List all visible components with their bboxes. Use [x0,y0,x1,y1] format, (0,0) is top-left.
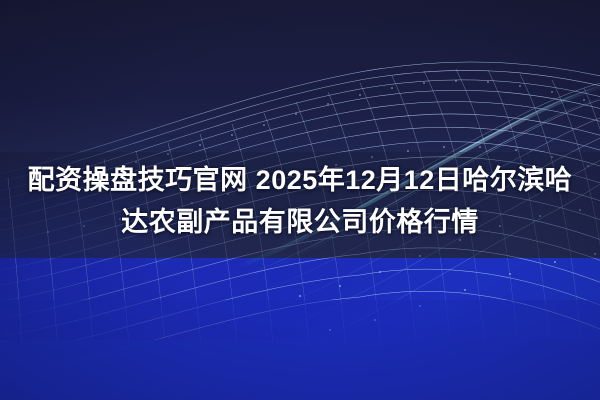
banner: 配资操盘技巧官网 2025年12月12日哈尔滨哈 达农副产品有限公司价格行情 [0,0,600,400]
headline-line-1: 配资操盘技巧官网 2025年12月12日哈尔滨哈 [18,159,582,201]
headline-line-2: 达农副产品有限公司价格行情 [18,201,582,243]
banner-headline: 配资操盘技巧官网 2025年12月12日哈尔滨哈 达农副产品有限公司价格行情 [0,159,600,243]
